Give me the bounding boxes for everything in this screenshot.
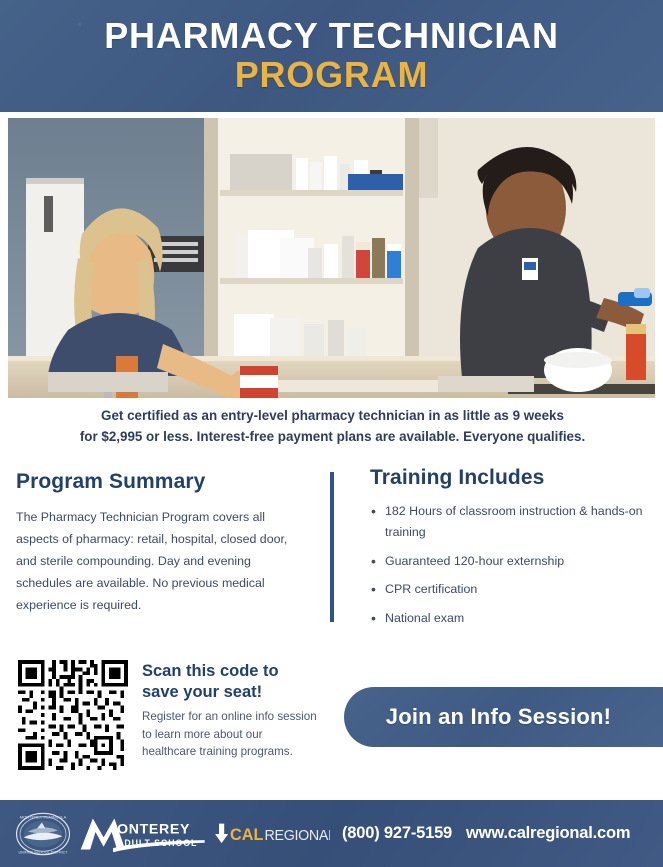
qr-code-graphic [18,660,128,770]
join-info-session-label: Join an Info Session! [386,704,611,730]
column-divider [330,472,334,622]
training-includes-section: Training Includes 182 Hours of classroom… [370,466,650,637]
program-summary-heading: Program Summary [16,470,306,494]
list-item: CPR certification [370,579,650,600]
scan-body-text: Register for an online info session to l… [142,708,317,760]
page-title-line2: PROGRAM [235,55,429,95]
pharmacy-lab-photo [8,118,655,398]
seal-text-bottom: UNIFIED SCHOOL DISTRICT [18,850,68,854]
photo-illustration [8,118,655,398]
program-summary-body: The Pharmacy Technician Program covers a… [16,506,306,616]
scan-heading-line2: save your seat! [142,683,262,701]
list-item: Guaranteed 120-hour externship [370,551,650,572]
logo-text-line1: ONTEREY [117,820,190,836]
footer-website[interactable]: www.calregional.com [466,824,630,843]
footer-bar: MONTEREY PENINSULA UNIFIED SCHOOL DISTRI… [0,800,663,867]
footer-phone[interactable]: (800) 927-5159 [342,824,452,843]
page-title-line1: PHARMACY TECHNICIAN [104,17,559,55]
scan-instructions: Scan this code to save your seat! Regist… [142,661,317,760]
seal-text-top: MONTEREY PENINSULA [20,814,67,819]
list-item: 182 Hours of classroom instruction & han… [370,501,650,543]
cal-regional-logo: CAL REGIONAL [212,821,330,847]
training-includes-heading: Training Includes [370,466,650,490]
header-banner: PHARMACY TECHNICIAN PROGRAM [0,0,663,112]
district-seal-icon: MONTEREY PENINSULA UNIFIED SCHOOL DISTRI… [14,811,72,857]
program-summary-section: Program Summary The Pharmacy Technician … [16,470,306,616]
scan-heading: Scan this code to save your seat! [142,661,317,702]
lead-paragraph: Get certified as an entry-level pharmacy… [40,406,625,448]
training-includes-list: 182 Hours of classroom instruction & han… [370,501,650,629]
scan-heading-line1: Scan this code to [142,662,279,680]
lead-line-1: Get certified as an entry-level pharmacy… [40,406,625,427]
join-info-session-button[interactable]: Join an Info Session! [344,687,663,747]
monterey-adult-school-logo: ONTEREY ADULT SCHOOL [78,814,206,854]
list-item: National exam [370,608,650,629]
cal-logo-bold: CAL [230,825,263,843]
qr-code[interactable] [18,660,128,770]
lead-line-2: for $2,995 or less. Interest-free paymen… [40,427,625,448]
cal-logo-light: REGIONAL [265,827,331,843]
